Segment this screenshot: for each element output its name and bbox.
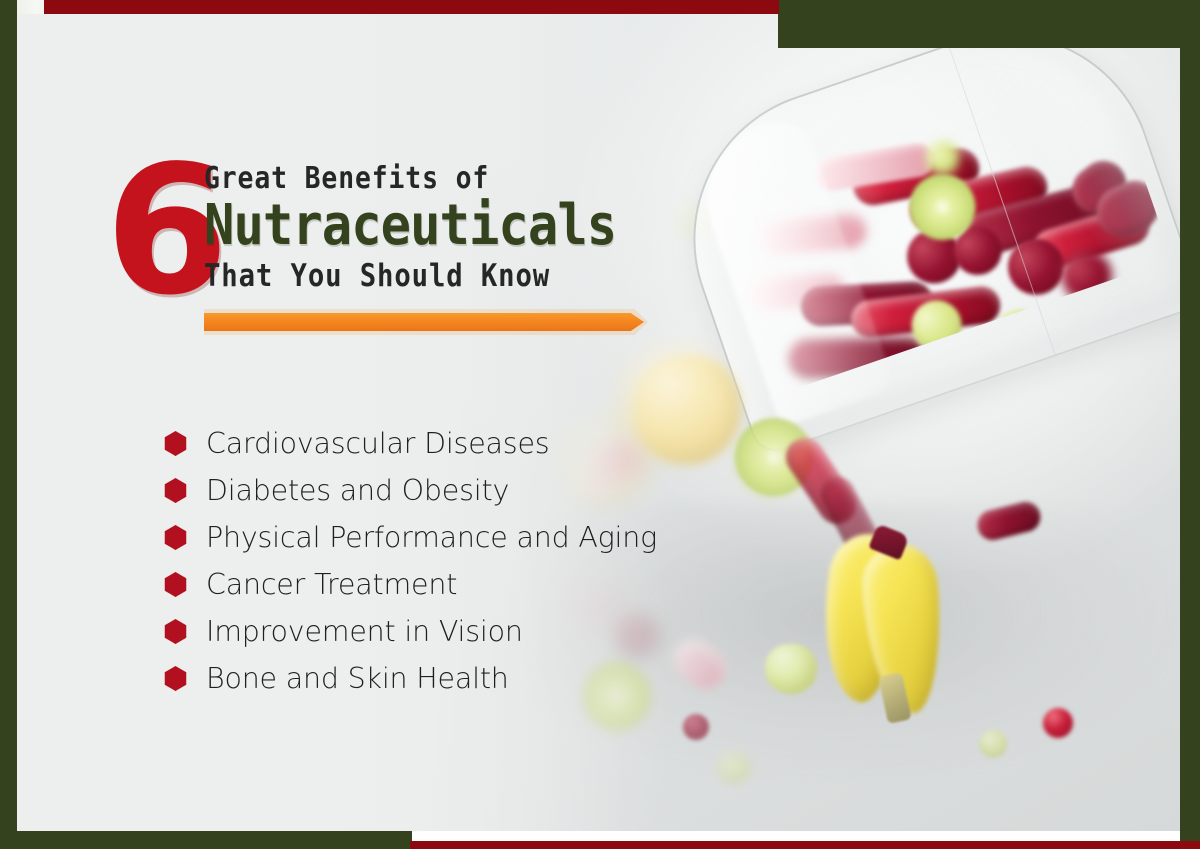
frame-bar-bottom-red <box>410 841 1200 849</box>
frame-bar-top-green <box>778 0 1200 48</box>
frame-bar-top-red <box>44 0 779 14</box>
hexagon-bullet-icon <box>163 666 188 691</box>
list-item: Cardiovascular Diseases <box>163 420 783 467</box>
list-item: Bone and Skin Health <box>163 655 783 702</box>
list-item: Physical Performance and Aging <box>163 514 783 561</box>
benefits-list: Cardiovascular Diseases Diabetes and Obe… <box>163 420 783 702</box>
list-item: Cancer Treatment <box>163 561 783 608</box>
benefit-label: Diabetes and Obesity <box>206 474 509 507</box>
benefit-label: Cancer Treatment <box>206 568 457 601</box>
frame-bar-left-green <box>0 0 17 849</box>
hexagon-bullet-icon <box>163 619 188 644</box>
infographic-poster: 6 Great Benefits of Nutraceuticals That … <box>0 0 1200 849</box>
headline-line-3: That You Should Know <box>204 261 607 292</box>
benefit-label: Physical Performance and Aging <box>206 521 657 554</box>
frame-bar-right-green <box>1180 0 1200 849</box>
benefit-label: Bone and Skin Health <box>206 662 509 695</box>
benefit-label: Improvement in Vision <box>206 615 523 648</box>
list-item: Diabetes and Obesity <box>163 467 783 514</box>
list-item: Improvement in Vision <box>163 608 783 655</box>
hexagon-bullet-icon <box>163 572 188 597</box>
headline-line-1: Great Benefits of <box>204 164 607 194</box>
hexagon-bullet-icon <box>163 478 188 503</box>
hexagon-bullet-icon <box>163 525 188 550</box>
content-layer: 6 Great Benefits of Nutraceuticals That … <box>0 0 1200 849</box>
headline-line-2: Nutraceuticals <box>204 198 616 254</box>
benefit-label: Cardiovascular Diseases <box>206 427 549 460</box>
frame-bar-bottom-green <box>0 831 412 849</box>
headline-lines: Great Benefits of Nutraceuticals That Yo… <box>204 164 662 292</box>
accent-bar-orange <box>204 313 644 331</box>
hexagon-bullet-icon <box>163 431 188 456</box>
title-block: 6 Great Benefits of Nutraceuticals That … <box>105 150 725 335</box>
